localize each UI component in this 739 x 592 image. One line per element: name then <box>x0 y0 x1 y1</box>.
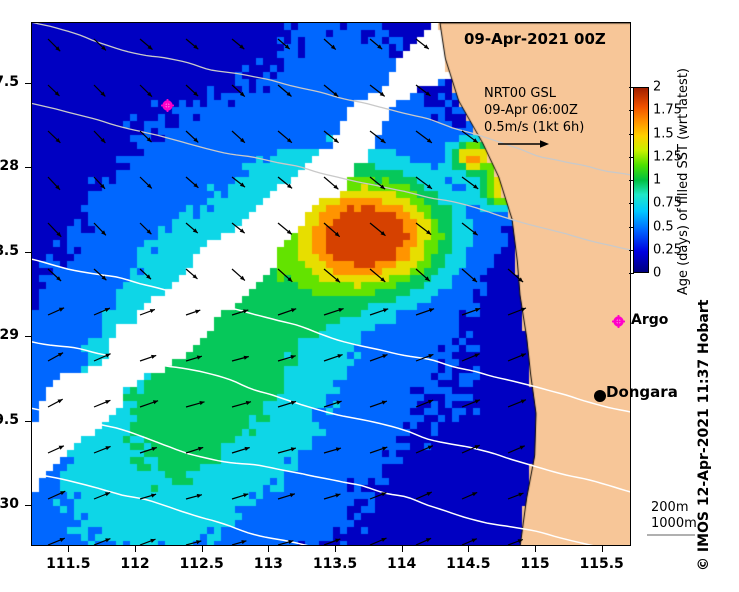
current-vector-arrow <box>370 538 387 545</box>
current-vector-arrow <box>186 223 198 233</box>
current-vector-arrow <box>278 85 292 97</box>
colorbar-tick <box>629 203 634 204</box>
current-vector-arrow <box>508 400 526 407</box>
current-vector-arrow <box>186 447 203 453</box>
y-axis-tick-label: -28.5 <box>0 243 19 259</box>
current-vector-arrow <box>324 269 340 282</box>
x-axis-tick-label: 114.5 <box>438 556 498 572</box>
x-axis-tick <box>402 546 403 552</box>
current-vector-arrow <box>140 85 152 97</box>
current-vector-arrow <box>232 177 245 187</box>
current-vector-arrow <box>324 177 338 189</box>
current-vector-arrow <box>370 39 382 49</box>
current-vector-arrow <box>278 447 296 453</box>
x-axis-tick <box>202 546 203 552</box>
argo-float-marker-icon <box>161 97 174 110</box>
bathymetry-contour <box>32 342 631 493</box>
current-vector-arrow <box>48 399 63 407</box>
current-vector-arrow <box>370 85 385 96</box>
current-vector-arrow <box>48 39 60 51</box>
colorbar: 00.250.50.7511.251.51.752 <box>633 87 649 273</box>
x-axis-tick <box>268 546 269 552</box>
y-axis-tick <box>25 83 31 84</box>
current-vector-arrow <box>416 131 432 143</box>
current-vector-arrow <box>48 538 65 545</box>
current-vector-arrow <box>462 269 477 282</box>
depth-contour-200m-label: 200m <box>651 500 697 516</box>
dongara-marker-icon <box>594 390 606 402</box>
current-vector-arrow <box>278 355 296 361</box>
current-vector-arrow <box>232 223 245 233</box>
current-vector-arrow <box>186 310 200 315</box>
current-vector-arrow <box>370 492 387 499</box>
current-vector-arrow <box>140 447 157 453</box>
current-vector-arrow <box>370 354 388 361</box>
current-vector-arrow <box>232 447 250 453</box>
current-vector-arrow <box>186 177 198 188</box>
current-vector-arrow <box>94 131 105 143</box>
current-vector-arrow <box>508 539 523 545</box>
colorbar-tick <box>629 134 634 135</box>
current-vector-arrow <box>508 446 525 453</box>
current-vector-arrow <box>416 39 429 49</box>
current-vector-arrow <box>232 85 245 97</box>
current-vector-arrow <box>462 354 480 361</box>
bathymetry-contour <box>32 408 631 546</box>
current-vector-arrow <box>416 177 432 189</box>
current-vector-arrow <box>324 131 339 143</box>
colorbar-tick <box>629 110 634 111</box>
current-vector-arrow <box>324 223 340 237</box>
colorbar-tick <box>629 180 634 181</box>
current-vector-arrow <box>324 401 342 407</box>
current-vector-arrow <box>48 223 61 237</box>
colorbar-axis-label: Age (days) of filled SST (wrt latest) <box>676 68 691 295</box>
y-axis-tick <box>25 421 31 422</box>
current-vector-arrow <box>278 308 296 315</box>
current-vector-arrow <box>278 177 292 188</box>
current-vector-arrow <box>370 447 387 453</box>
current-vector-arrow <box>462 223 478 235</box>
current-vector-arrow <box>462 539 477 545</box>
current-vector-arrow <box>324 447 341 453</box>
y-axis-tick-label: -29.5 <box>0 412 19 428</box>
current-vector-arrow <box>416 538 431 545</box>
colorbar-tick-label: 1.5 <box>653 126 674 141</box>
current-vector-arrow <box>232 39 244 49</box>
y-axis-tick <box>25 336 31 337</box>
current-vector-arrow <box>370 308 388 315</box>
current-vector-arrow <box>48 491 65 499</box>
colorbar-tick-label: 1 <box>653 173 661 188</box>
x-axis-tick-label: 111.5 <box>38 556 98 572</box>
current-vector-arrow <box>416 85 431 96</box>
current-vector-arrow <box>232 401 251 407</box>
bathymetry-contour <box>32 473 631 546</box>
current-vector-arrow <box>324 539 340 545</box>
map-title: 09-Apr-2021 00Z <box>464 30 606 48</box>
current-vector-arrow <box>140 400 158 407</box>
current-vector-arrow <box>140 39 153 50</box>
current-vector-arrow <box>416 308 434 315</box>
colorbar-tick-label: 0 <box>653 266 661 281</box>
x-axis-tick <box>468 546 469 552</box>
current-vector-arrow <box>48 131 60 143</box>
y-axis-tick <box>25 167 31 168</box>
current-vector-arrow <box>370 177 385 189</box>
current-vector-arrow <box>94 538 110 545</box>
current-vector-arrow <box>278 39 290 49</box>
bathymetry-legend-rule <box>647 534 695 536</box>
current-vector-arrow <box>48 269 61 281</box>
current-vector-arrow <box>278 269 292 282</box>
colorbar-tick-label: 0.5 <box>653 219 674 234</box>
current-vector-arrow <box>48 85 60 96</box>
current-vector-arrow <box>508 308 526 315</box>
x-axis-tick <box>602 546 603 552</box>
current-vector-arrow <box>94 223 106 235</box>
x-axis-tick-label: 112 <box>105 556 165 572</box>
colorbar-gradient <box>633 87 649 273</box>
current-vector-arrow <box>462 177 478 189</box>
annotation-valid-time: 09-Apr 06:00Z <box>484 102 584 119</box>
current-vector-arrow <box>94 308 110 315</box>
y-axis-tick-label: -29 <box>0 327 19 343</box>
bathymetry-contour <box>32 259 631 412</box>
argo-legend-label: Argo <box>631 312 668 328</box>
current-vector-arrow <box>48 446 64 453</box>
current-vector-arrow <box>48 353 63 361</box>
current-vector-arrow <box>324 39 336 50</box>
current-vector-arrow <box>370 223 386 236</box>
current-vector-arrow <box>462 492 477 499</box>
current-vector-arrow <box>48 177 60 190</box>
current-vector-arrow <box>370 131 386 143</box>
x-axis-tick <box>335 546 336 552</box>
colorbar-tick <box>629 157 634 158</box>
x-axis-tick <box>68 546 69 552</box>
x-axis-tick-label: 115.5 <box>572 556 632 572</box>
x-axis-tick-label: 113.5 <box>305 556 365 572</box>
argo-legend: Argo <box>612 312 668 328</box>
map-figure: 09-Apr-2021 00Z NRT00 GSL 09-Apr 06:00Z … <box>0 0 739 592</box>
current-vector-arrow <box>462 308 480 315</box>
x-axis-tick-label: 113 <box>238 556 298 572</box>
y-axis-tick-label: -27.5 <box>0 74 19 90</box>
current-vector-arrow <box>140 177 152 188</box>
y-axis-tick-label: -28 <box>0 158 19 174</box>
current-vector-arrow <box>416 492 432 499</box>
x-axis-tick-label: 115 <box>505 556 565 572</box>
current-vector-arrow <box>140 223 151 234</box>
depth-contour-1000m-label: 1000m <box>651 516 697 532</box>
current-vector-arrow <box>48 308 64 315</box>
y-axis-tick <box>25 505 31 506</box>
current-vector-arrow <box>278 401 296 407</box>
colorbar-tick <box>629 250 634 251</box>
current-vector-arrow <box>324 354 343 361</box>
current-vector-arrow <box>186 85 198 96</box>
current-vector-arrow <box>232 269 245 281</box>
x-axis-tick-label: 114 <box>372 556 432 572</box>
current-vector-arrow <box>508 354 526 362</box>
current-vector-arrow <box>278 223 292 234</box>
current-vector-arrow <box>370 269 385 282</box>
colorbar-tick <box>629 273 634 274</box>
current-vector-arrow <box>232 493 248 499</box>
current-annotation-block: NRT00 GSL 09-Apr 06:00Z 0.5m/s (1kt 6h) <box>484 85 584 136</box>
current-vector-arrow <box>232 131 245 143</box>
copyright-credit: © IMOS 12-Apr-2021 11:37 Hobart <box>696 300 712 571</box>
current-vector-arrow <box>370 401 387 407</box>
current-vector-arrow <box>140 269 151 279</box>
current-vector-arrow <box>140 309 155 315</box>
current-vector-arrow <box>462 400 480 407</box>
current-vector-arrow <box>278 493 295 499</box>
x-axis-tick <box>135 546 136 552</box>
x-axis-tick-label: 112.5 <box>172 556 232 572</box>
current-vector-arrow <box>186 39 198 49</box>
current-vector-arrow <box>140 494 156 499</box>
current-vector-arrow <box>416 269 430 281</box>
current-vector-arrow <box>140 355 156 361</box>
current-vector-arrow <box>186 131 198 142</box>
colorbar-tick-label: 2 <box>653 80 661 95</box>
current-vector-arrow <box>186 401 205 407</box>
current-vector-arrow <box>324 308 344 315</box>
y-axis-tick-label: -30 <box>0 496 19 512</box>
current-vector-arrow <box>94 492 110 499</box>
current-vector-arrow <box>416 400 433 407</box>
current-vector-arrow <box>232 540 246 545</box>
colorbar-tick <box>629 227 634 228</box>
annotation-product: NRT00 GSL <box>484 85 584 102</box>
bathymetry-legend: 200m 1000m <box>651 500 697 532</box>
current-vector-arrow <box>140 539 156 545</box>
current-vector-arrow <box>94 85 105 96</box>
current-vector-arrow <box>186 269 198 279</box>
current-vector-arrow <box>94 446 111 453</box>
annotation-scale: 0.5m/s (1kt 6h) <box>484 119 584 136</box>
dongara-label: Dongara <box>606 383 678 401</box>
current-vector-arrow <box>508 493 524 499</box>
current-vector-arrow <box>508 269 523 282</box>
current-vector-arrow <box>278 131 292 143</box>
current-vector-arrow <box>416 446 433 453</box>
current-vector-arrow <box>186 540 201 545</box>
current-vector-arrow <box>94 177 105 189</box>
current-vector-arrow <box>232 356 249 361</box>
y-axis-tick <box>25 252 31 253</box>
current-vector-arrow <box>94 400 110 407</box>
argo-float-icon <box>612 315 623 326</box>
x-axis-tick <box>535 546 536 552</box>
current-vector-arrow <box>186 494 202 499</box>
current-vector-arrow <box>186 356 202 362</box>
reference-vector-arrow-icon <box>498 138 550 150</box>
colorbar-tick <box>629 87 634 88</box>
current-vector-arrow <box>324 493 341 499</box>
current-vector-arrow <box>416 223 431 235</box>
